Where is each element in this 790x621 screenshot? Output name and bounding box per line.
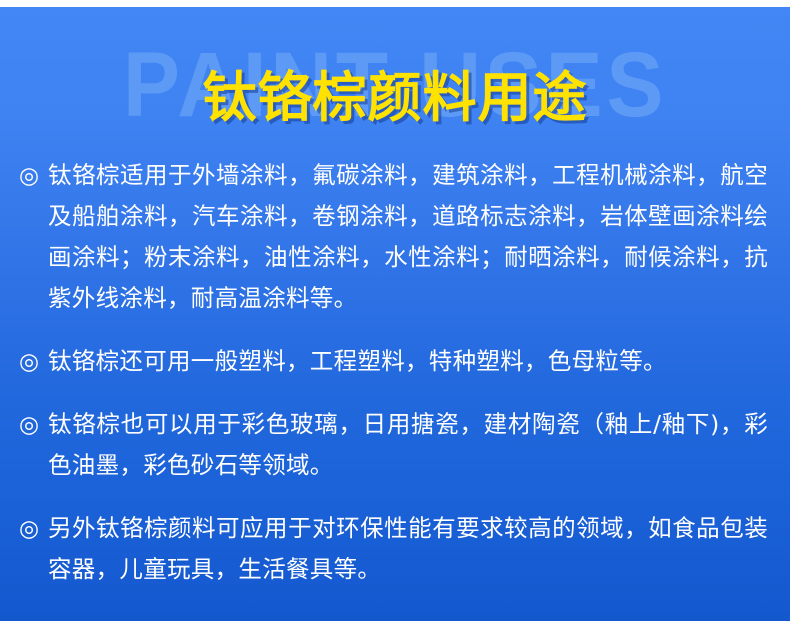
bullet-list: ◎ 钛铬棕适用于外墙涂料，氟碳涂料，建筑涂料，工程机械涂料，航空及船舶涂料，汽车… bbox=[0, 155, 790, 590]
list-item-text: 钛铬棕适用于外墙涂料，氟碳涂料，建筑涂料，工程机械涂料，航空及船舶涂料，汽车涂料… bbox=[48, 155, 768, 319]
blue-background-panel: PAINT USES 钛铬棕颜料用途 ◎ 钛铬棕适用于外墙涂料，氟碳涂料，建筑涂… bbox=[0, 7, 790, 621]
list-item: ◎ 钛铬棕还可用一般塑料，工程塑料，特种塑料，色母粒等。 bbox=[0, 341, 790, 382]
page-title-container: 钛铬棕颜料用途 bbox=[0, 66, 790, 130]
page-title: 钛铬棕颜料用途 bbox=[203, 66, 588, 130]
bullet-marker-icon: ◎ bbox=[19, 155, 45, 196]
bullet-marker-icon: ◎ bbox=[19, 508, 45, 549]
list-item: ◎ 钛铬棕也可以用于彩色玻璃，日用搪瓷，建材陶瓷（釉上/釉下)，彩色油墨，彩色砂… bbox=[0, 404, 790, 486]
bullet-marker-icon: ◎ bbox=[19, 341, 45, 382]
list-item-text: 另外钛铬棕颜料可应用于对环保性能有要求较高的领域，如食品包装容器，儿童玩具，生活… bbox=[48, 508, 768, 590]
list-item: ◎ 钛铬棕适用于外墙涂料，氟碳涂料，建筑涂料，工程机械涂料，航空及船舶涂料，汽车… bbox=[0, 155, 790, 319]
list-item: ◎ 另外钛铬棕颜料可应用于对环保性能有要求较高的领域，如食品包装容器，儿童玩具，… bbox=[0, 508, 790, 590]
paint-uses-poster: PAINT USES 钛铬棕颜料用途 ◎ 钛铬棕适用于外墙涂料，氟碳涂料，建筑涂… bbox=[0, 0, 790, 621]
list-item-text: 钛铬棕还可用一般塑料，工程塑料，特种塑料，色母粒等。 bbox=[48, 341, 768, 382]
list-item-text: 钛铬棕也可以用于彩色玻璃，日用搪瓷，建材陶瓷（釉上/釉下)，彩色油墨，彩色砂石等… bbox=[48, 404, 768, 486]
bullet-marker-icon: ◎ bbox=[19, 404, 45, 445]
